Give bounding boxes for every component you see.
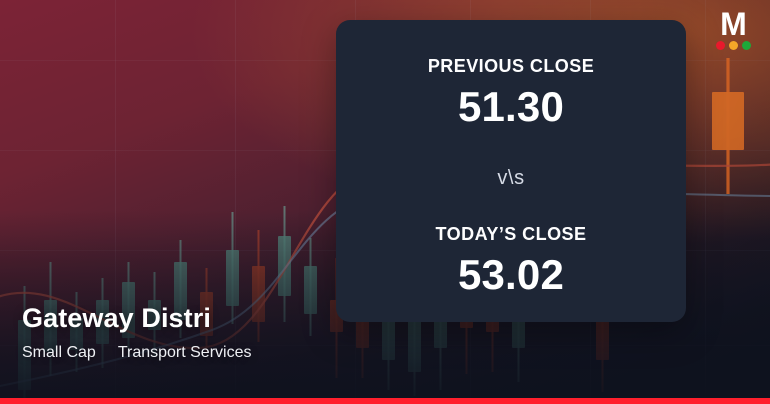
todays-close-value: 53.02 <box>458 253 564 297</box>
company-info: Gateway Distri Small Cap Transport Servi… <box>22 303 251 362</box>
bottom-accent-bar <box>0 398 770 404</box>
todays-close-label: TODAY’S CLOSE <box>436 224 587 245</box>
company-tag-sector: Transport Services <box>118 344 252 362</box>
company-name: Gateway Distri <box>22 303 251 334</box>
versus-separator: v\s <box>497 167 524 190</box>
stock-comparison-banner: PREVIOUS CLOSE 51.30 v\s TODAY’S CLOSE 5… <box>0 0 770 404</box>
company-tag-list: Small Cap Transport Services <box>22 344 251 362</box>
logo-dot-green <box>742 41 751 50</box>
logo-dot-amber <box>729 41 738 50</box>
company-tag-market-cap: Small Cap <box>22 344 96 362</box>
previous-close-value: 51.30 <box>458 85 564 129</box>
moneycontrol-logo: M <box>710 10 756 50</box>
logo-dot-row <box>716 41 751 50</box>
close-comparison-card: PREVIOUS CLOSE 51.30 v\s TODAY’S CLOSE 5… <box>336 20 686 322</box>
logo-dot-red <box>716 41 725 50</box>
logo-letter-m: M <box>720 10 746 39</box>
previous-close-label: PREVIOUS CLOSE <box>428 56 594 77</box>
